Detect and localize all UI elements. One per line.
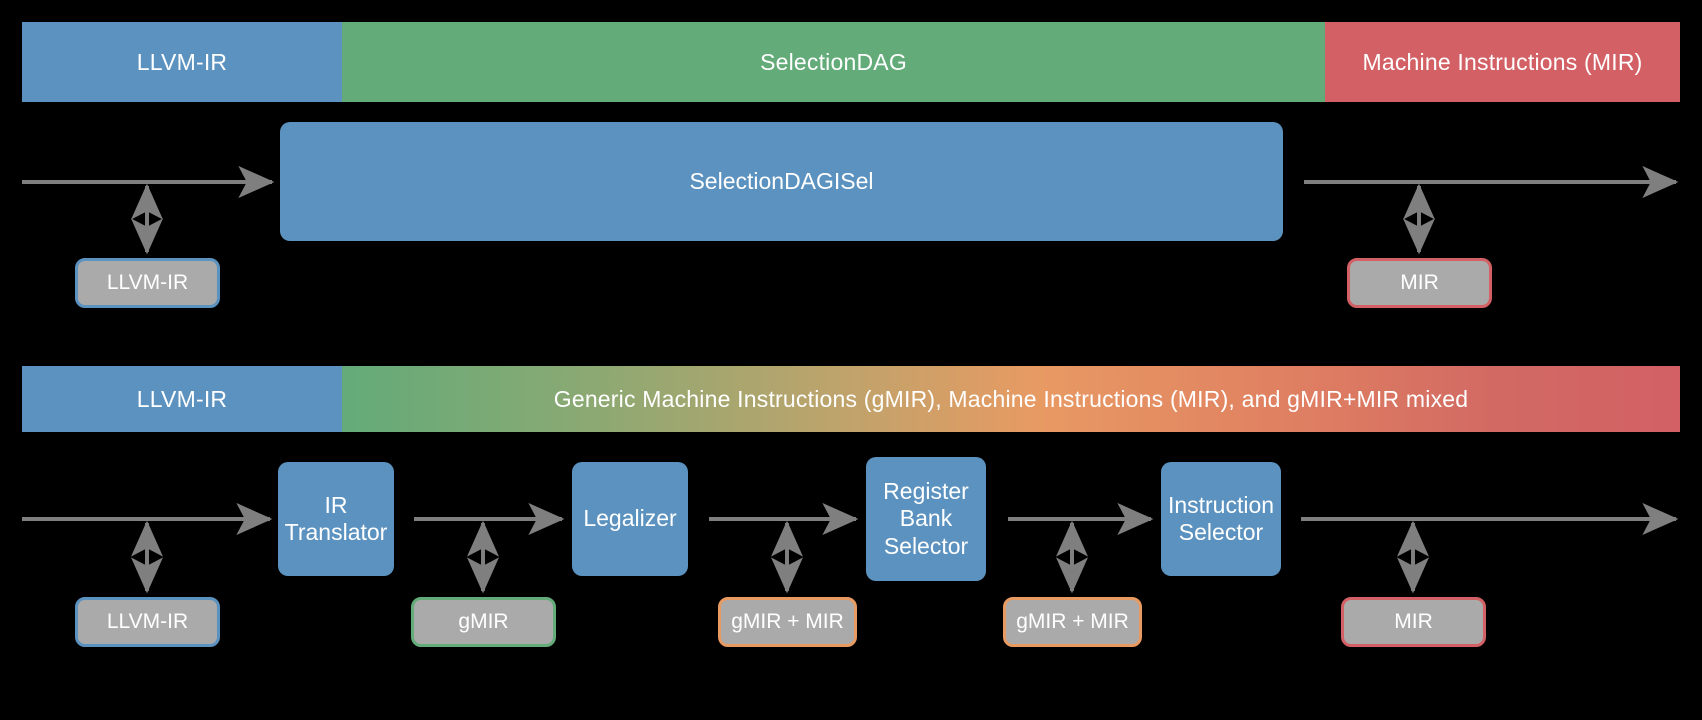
- artifact-box-llvm-ir-gisel[interactable]: LLVM-IR: [75, 597, 220, 647]
- band-segment-label: Machine Instructions (MIR): [1363, 49, 1643, 76]
- band-segment-selectiondag: SelectionDAG: [342, 22, 1325, 102]
- pass-box-label: Instruction Selector: [1168, 492, 1274, 546]
- pass-box-label: SelectionDAGISel: [689, 168, 873, 195]
- pass-box-label: Legalizer: [583, 505, 676, 532]
- artifact-box-gmir[interactable]: gMIR: [411, 597, 556, 647]
- artifact-box-label: LLVM-IR: [107, 610, 188, 634]
- artifact-box-label: LLVM-IR: [107, 271, 188, 295]
- artifact-box-label: gMIR + MIR: [1016, 610, 1129, 634]
- pass-box-label: Register Bank Selector: [883, 478, 969, 559]
- pass-box-selectiondagisel[interactable]: SelectionDAGISel: [280, 122, 1283, 241]
- band-segment-llvm-ir-bottom: LLVM-IR: [22, 366, 342, 432]
- artifact-box-mir-sdag[interactable]: MIR: [1347, 258, 1492, 308]
- band-segment-gmir-mir-mixed: Generic Machine Instructions (gMIR), Mac…: [342, 366, 1680, 432]
- artifact-box-label: gMIR + MIR: [731, 610, 844, 634]
- artifact-box-label: gMIR: [458, 610, 508, 634]
- pass-box-legalizer[interactable]: Legalizer: [572, 462, 688, 576]
- band-segment-label: LLVM-IR: [137, 49, 227, 76]
- pass-box-register-bank-selector[interactable]: Register Bank Selector: [866, 457, 986, 581]
- artifact-box-llvm-ir-sdag[interactable]: LLVM-IR: [75, 258, 220, 308]
- diagram-canvas: LLVM-IR SelectionDAG Machine Instruction…: [0, 0, 1702, 720]
- pass-box-ir-translator[interactable]: IR Translator: [278, 462, 394, 576]
- band-segment-label: SelectionDAG: [760, 49, 907, 76]
- artifact-box-mir-gisel[interactable]: MIR: [1341, 597, 1486, 647]
- band-segment-label: Generic Machine Instructions (gMIR), Mac…: [554, 386, 1469, 413]
- artifact-box-label: MIR: [1394, 610, 1433, 634]
- pass-box-label: IR Translator: [285, 492, 388, 546]
- pass-box-instruction-selector[interactable]: Instruction Selector: [1161, 462, 1281, 576]
- artifact-box-gmir-mir-1[interactable]: gMIR + MIR: [718, 597, 857, 647]
- band-segment-label: LLVM-IR: [137, 386, 227, 413]
- artifact-box-gmir-mir-2[interactable]: gMIR + MIR: [1003, 597, 1142, 647]
- artifact-box-label: MIR: [1400, 271, 1439, 295]
- band-segment-llvm-ir-top: LLVM-IR: [22, 22, 342, 102]
- band-segment-machine-instructions: Machine Instructions (MIR): [1325, 22, 1680, 102]
